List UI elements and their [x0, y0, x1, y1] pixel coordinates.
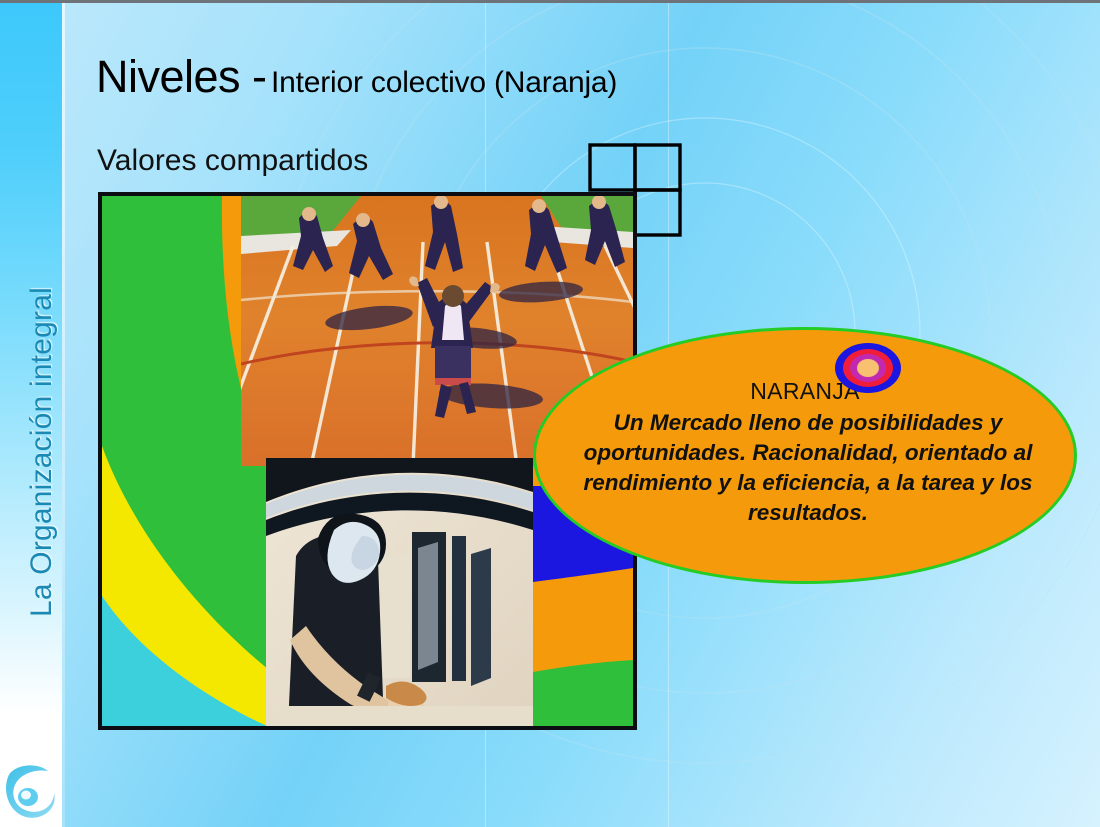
- bullseye-target-icon: [835, 343, 901, 393]
- callout-ellipse: NARANJA Un Mercado lleno de posibilidade…: [533, 327, 1077, 584]
- callout-body: Un Mercado lleno de posibilidades y opor…: [576, 408, 1040, 528]
- title-main: Niveles -: [96, 51, 267, 102]
- swirl-eye-logo-icon: [2, 759, 58, 821]
- title-sub: Interior colectivo (Naranja): [271, 66, 617, 99]
- page-title: Niveles - Interior colectivo (Naranja): [96, 51, 617, 103]
- slide-canvas: La Organización integral Niveles - Inter…: [0, 0, 1100, 827]
- photo-person-at-computer: [266, 458, 533, 726]
- callout-label: NARANJA: [536, 378, 1074, 405]
- subtitle: Valores compartidos: [97, 144, 368, 178]
- sidebar-edge-highlight: [62, 3, 65, 827]
- sidebar-vertical-title: La Organización integral: [25, 167, 59, 617]
